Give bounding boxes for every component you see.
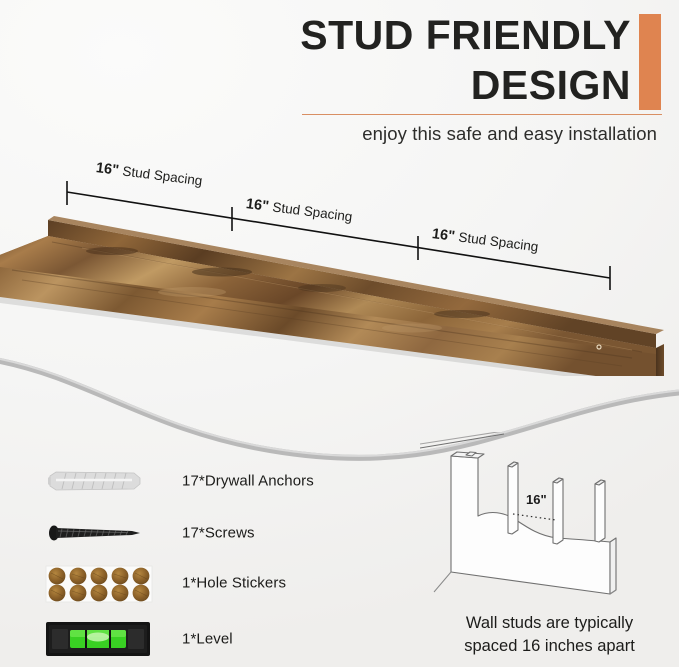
list-item: 1*Hole Stickers bbox=[40, 560, 400, 606]
top-section: STUD FRIENDLY DESIGN enjoy this safe and… bbox=[0, 0, 679, 400]
headline-line-2: DESIGN bbox=[211, 60, 631, 110]
list-item: 17*Screws bbox=[40, 510, 400, 556]
part-label: 1*Hole Stickers bbox=[182, 575, 286, 592]
subtitle: enjoy this safe and easy installation bbox=[187, 123, 657, 145]
horizontal-rule bbox=[302, 114, 662, 115]
orange-accent-bar bbox=[639, 14, 661, 110]
list-item: 17*Drywall Anchors bbox=[40, 458, 400, 504]
part-label: 17*Screws bbox=[182, 525, 255, 542]
screw-icon bbox=[40, 510, 170, 556]
headline-line-1: STUD FRIENDLY bbox=[300, 12, 631, 58]
part-label: 17*Drywall Anchors bbox=[182, 473, 314, 490]
page-title: STUD FRIENDLY DESIGN bbox=[211, 10, 631, 110]
included-parts-list: 17*Drywall Anchors 17*Screws bbox=[0, 448, 400, 667]
stud-measure-label: 16" bbox=[526, 492, 547, 507]
caption-line-1: Wall studs are typically bbox=[466, 614, 633, 632]
dimension-value: 16" bbox=[95, 160, 120, 179]
hole-stickers-icon bbox=[40, 560, 170, 606]
caption-line-2: spaced 16 inches apart bbox=[464, 637, 635, 655]
floating-shelf-product-image bbox=[0, 196, 679, 376]
stud-diagram-caption: Wall studs are typically spaced 16 inche… bbox=[420, 612, 679, 658]
infographic-page: STUD FRIENDLY DESIGN enjoy this safe and… bbox=[0, 0, 679, 667]
part-label: 1*Level bbox=[182, 631, 233, 648]
list-item: 1*Level bbox=[40, 616, 400, 662]
wall-stud-diagram: 16" bbox=[420, 432, 679, 612]
drywall-anchor-icon bbox=[40, 458, 170, 504]
level-tool-icon bbox=[40, 616, 170, 662]
